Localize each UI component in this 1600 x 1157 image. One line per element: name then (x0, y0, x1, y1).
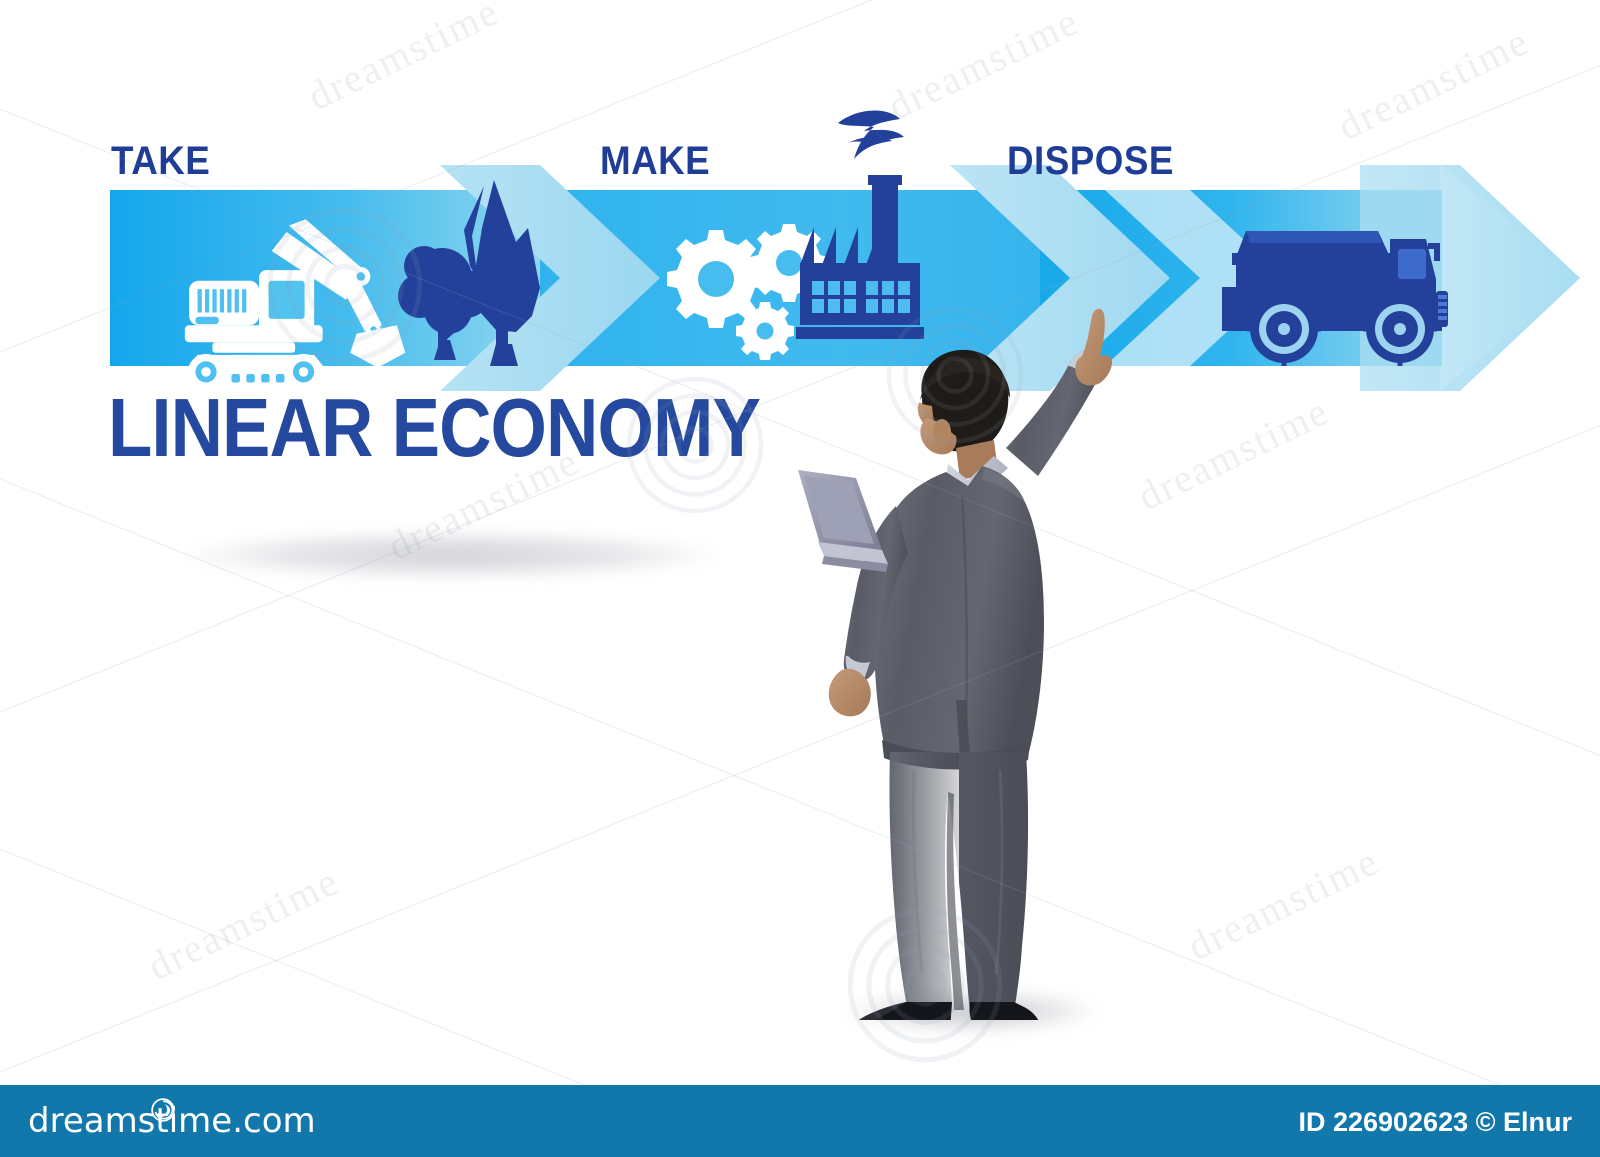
suit-jacket (874, 466, 1044, 770)
laptop-icon (798, 470, 888, 572)
watermark-text: dreamstime (1180, 837, 1386, 970)
watermark-text: dreamstime (1330, 17, 1536, 150)
shoes (851, 1002, 1041, 1020)
arrow-head-right (1360, 165, 1580, 391)
diagram-drop-shadow (70, 520, 830, 590)
businessman-figure (770, 300, 1170, 1020)
excavator-icon (181, 219, 406, 390)
pointing-arm (1006, 309, 1112, 476)
footer-bar: dreamstime.com ID 226902623 © Elnur (0, 1085, 1600, 1157)
watermark-text: dreamstime (300, 0, 506, 120)
trees-icon (398, 180, 540, 366)
stage-label-dispose: DISPOSE (1007, 141, 1174, 181)
page-title: LINEAR ECONOMY (108, 386, 760, 469)
image-canvas: TAKE MAKE DISPOSE LINEAR ECONOMY (0, 0, 1600, 1157)
watermark-spiral-icon (260, 200, 430, 370)
watermark-text: dreamstime (880, 0, 1086, 130)
trousers (889, 752, 1028, 1012)
image-credit: ID 226902623 © Elnur (1298, 1107, 1572, 1138)
watermark-text: dreamstime (140, 857, 346, 990)
stage-label-make: MAKE (600, 141, 710, 181)
stage-label-take: TAKE (111, 141, 210, 181)
chevron-take-make (440, 165, 660, 391)
dump-truck-icon (1222, 231, 1448, 366)
dreamstime-spiral-icon (150, 1097, 176, 1123)
